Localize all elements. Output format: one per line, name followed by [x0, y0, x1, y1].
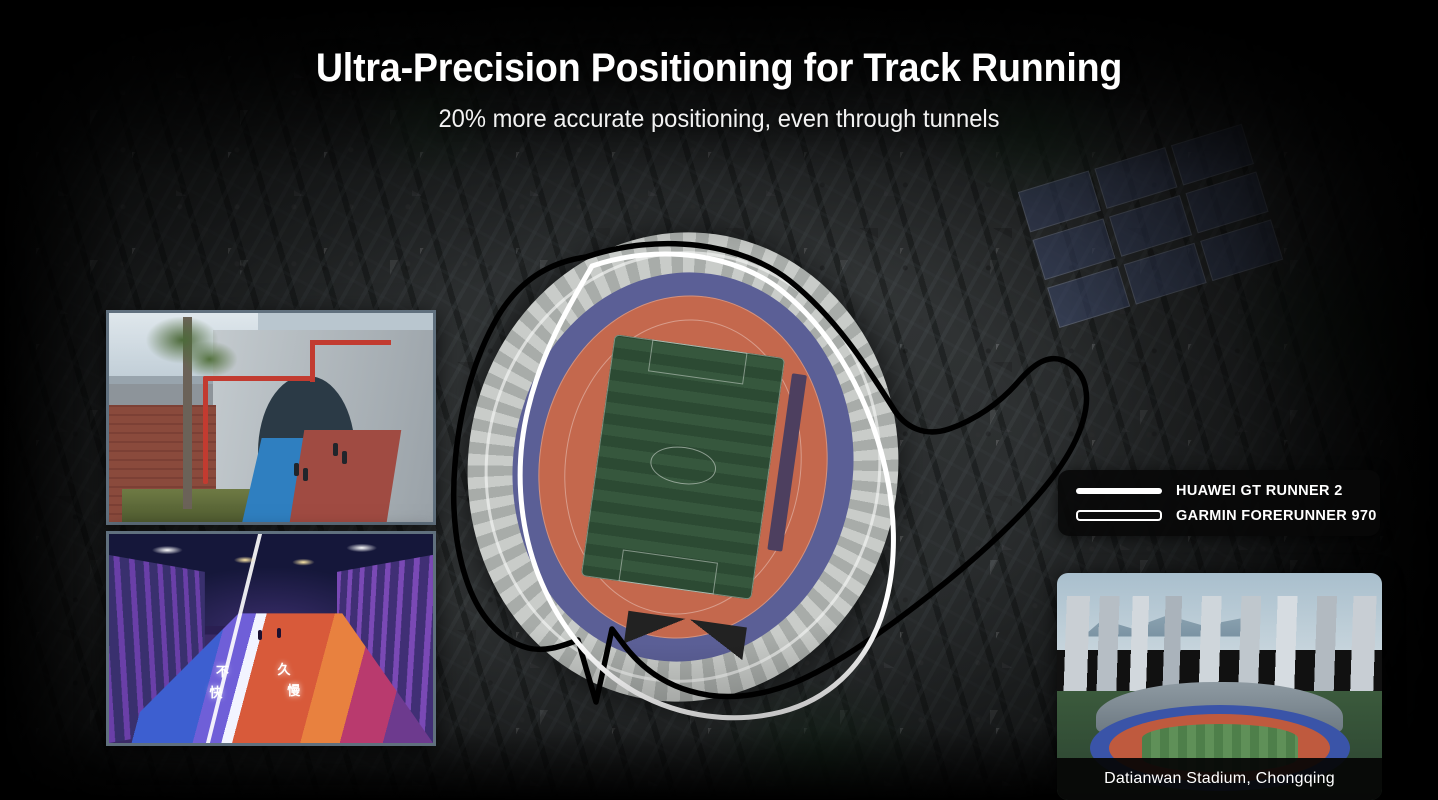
- stadium-photo-card: Datianwan Stadium, Chongqing: [1057, 573, 1382, 800]
- photo-pedestrian: [342, 451, 347, 464]
- photo-floor-glyph: 不: [216, 661, 229, 680]
- legend-item-huawei: HUAWEI GT RUNNER 2: [1076, 483, 1380, 499]
- photo-red-pipe-upper-vertical: [310, 340, 315, 382]
- header: Ultra-Precision Positioning for Track Ru…: [0, 0, 1438, 134]
- stadium-photo-caption: Datianwan Stadium, Chongqing: [1057, 758, 1382, 800]
- legend-item-garmin: GARMIN FORERUNNER 970: [1076, 508, 1380, 524]
- photo-red-pipe-vertical: [203, 376, 208, 485]
- page-title: Ultra-Precision Positioning for Track Ru…: [43, 46, 1395, 91]
- legend-label-garmin: GARMIN FORERUNNER 970: [1176, 508, 1377, 524]
- photo-tree: [141, 317, 238, 509]
- page-subtitle: 20% more accurate positioning, even thro…: [36, 105, 1402, 134]
- photo-pedestrian: [294, 463, 299, 476]
- photo-floor-glyph: 久: [277, 659, 290, 678]
- track-legend: HUAWEI GT RUNNER 2 GARMIN FORERUNNER 970: [1058, 470, 1380, 536]
- tunnel-interior-photo: 不 快 久 慢: [106, 531, 436, 746]
- photo-pedestrian: [333, 443, 338, 456]
- legend-swatch-solid-line-icon: [1076, 488, 1162, 494]
- legend-label-huawei: HUAWEI GT RUNNER 2: [1176, 483, 1343, 499]
- photo-pedestrian: [303, 468, 308, 481]
- photo-red-pipe-upper-horizontal: [310, 340, 391, 345]
- photo-floor-glyph: 慢: [287, 680, 300, 699]
- photo-floor-glyph: 快: [209, 682, 222, 701]
- photo-ceiling-lights: [109, 538, 433, 592]
- slide-root: Ultra-Precision Positioning for Track Ru…: [0, 0, 1438, 800]
- tunnel-entrance-photo: [106, 310, 436, 525]
- photo-runner: [277, 628, 281, 638]
- caption-text: Datianwan Stadium, Chongqing: [1104, 770, 1335, 788]
- photo-red-pipe-horizontal: [203, 376, 313, 381]
- photo-runner: [258, 630, 262, 640]
- inset-photo-column: 不 快 久 慢: [106, 310, 436, 746]
- legend-swatch-hollow-line-icon: [1076, 510, 1162, 521]
